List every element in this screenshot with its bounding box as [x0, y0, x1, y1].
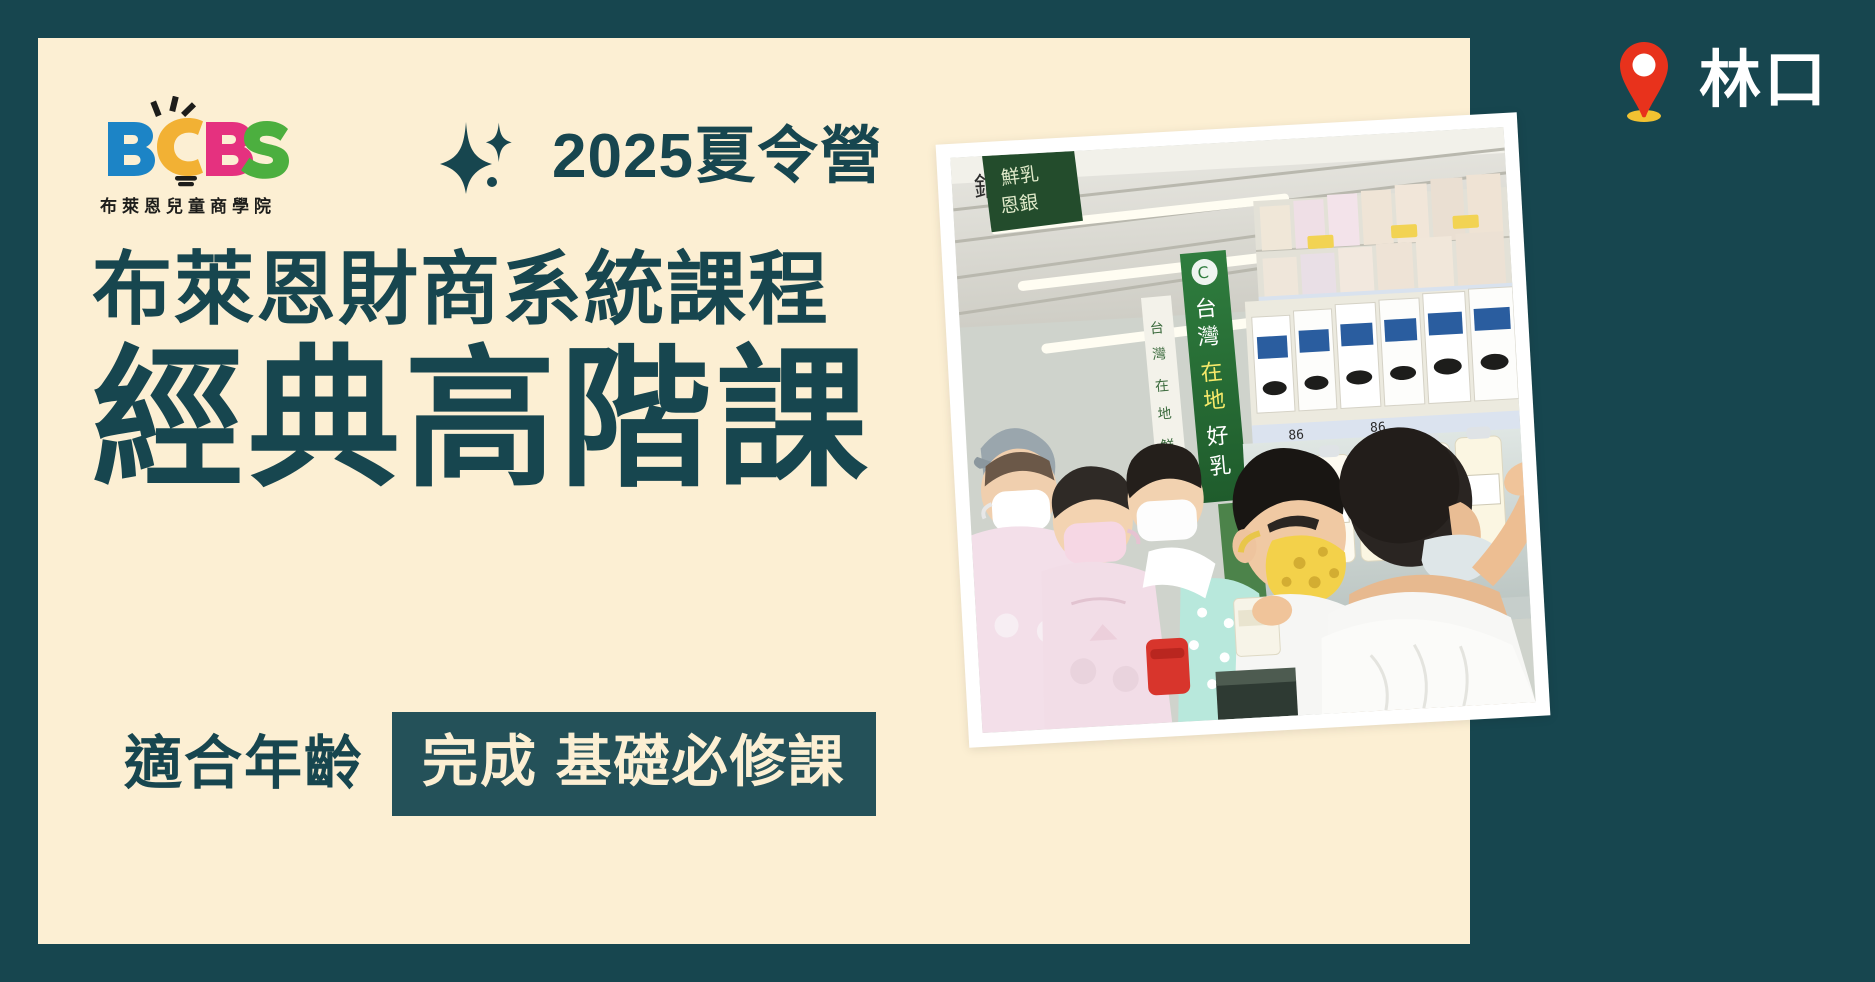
- svg-text:灣: 灣: [1196, 324, 1220, 351]
- svg-text:在: 在: [1154, 378, 1169, 395]
- course-subtitle: 布萊恩財商系統課程: [92, 248, 872, 332]
- svg-text:台: 台: [1149, 320, 1164, 337]
- poster-root: 林口: [0, 0, 1875, 982]
- camp-title-row: 2025夏令營: [436, 118, 883, 196]
- svg-text:在: 在: [1200, 360, 1224, 387]
- location-label: 林口: [1699, 50, 1829, 112]
- bcbs-logo-icon: [102, 96, 292, 188]
- course-title: 經典高階課: [92, 338, 872, 502]
- svg-text:地: 地: [1202, 388, 1226, 415]
- age-label: 適合年齡: [124, 712, 364, 816]
- camp-title: 2025夏令營: [552, 126, 883, 188]
- brand-logo: 布萊恩兒童商學院: [98, 96, 398, 217]
- course-heading: 布萊恩財商系統課程 經典高階課: [92, 248, 872, 502]
- svg-text:C: C: [1197, 263, 1210, 283]
- svg-text:好: 好: [1205, 424, 1229, 451]
- photo-image: 鍋 鮮乳 恩銀: [950, 127, 1535, 733]
- prerequisite-badge: 完成 基礎必修課: [392, 712, 876, 816]
- svg-text:乳: 乳: [1208, 453, 1232, 480]
- svg-text:台: 台: [1194, 296, 1218, 323]
- sparkle-icon: [436, 118, 528, 196]
- logo-tagline: 布萊恩兒童商學院: [100, 192, 398, 217]
- svg-text:地: 地: [1157, 406, 1172, 423]
- location-badge: 林口: [1615, 40, 1829, 122]
- age-requirement-row: 適合年齡 完成 基礎必修課: [124, 712, 876, 816]
- svg-text:灣: 灣: [1152, 346, 1167, 363]
- map-pin-icon: [1615, 40, 1673, 122]
- supermarket-children-photo: 鍋 鮮乳 恩銀: [936, 112, 1551, 748]
